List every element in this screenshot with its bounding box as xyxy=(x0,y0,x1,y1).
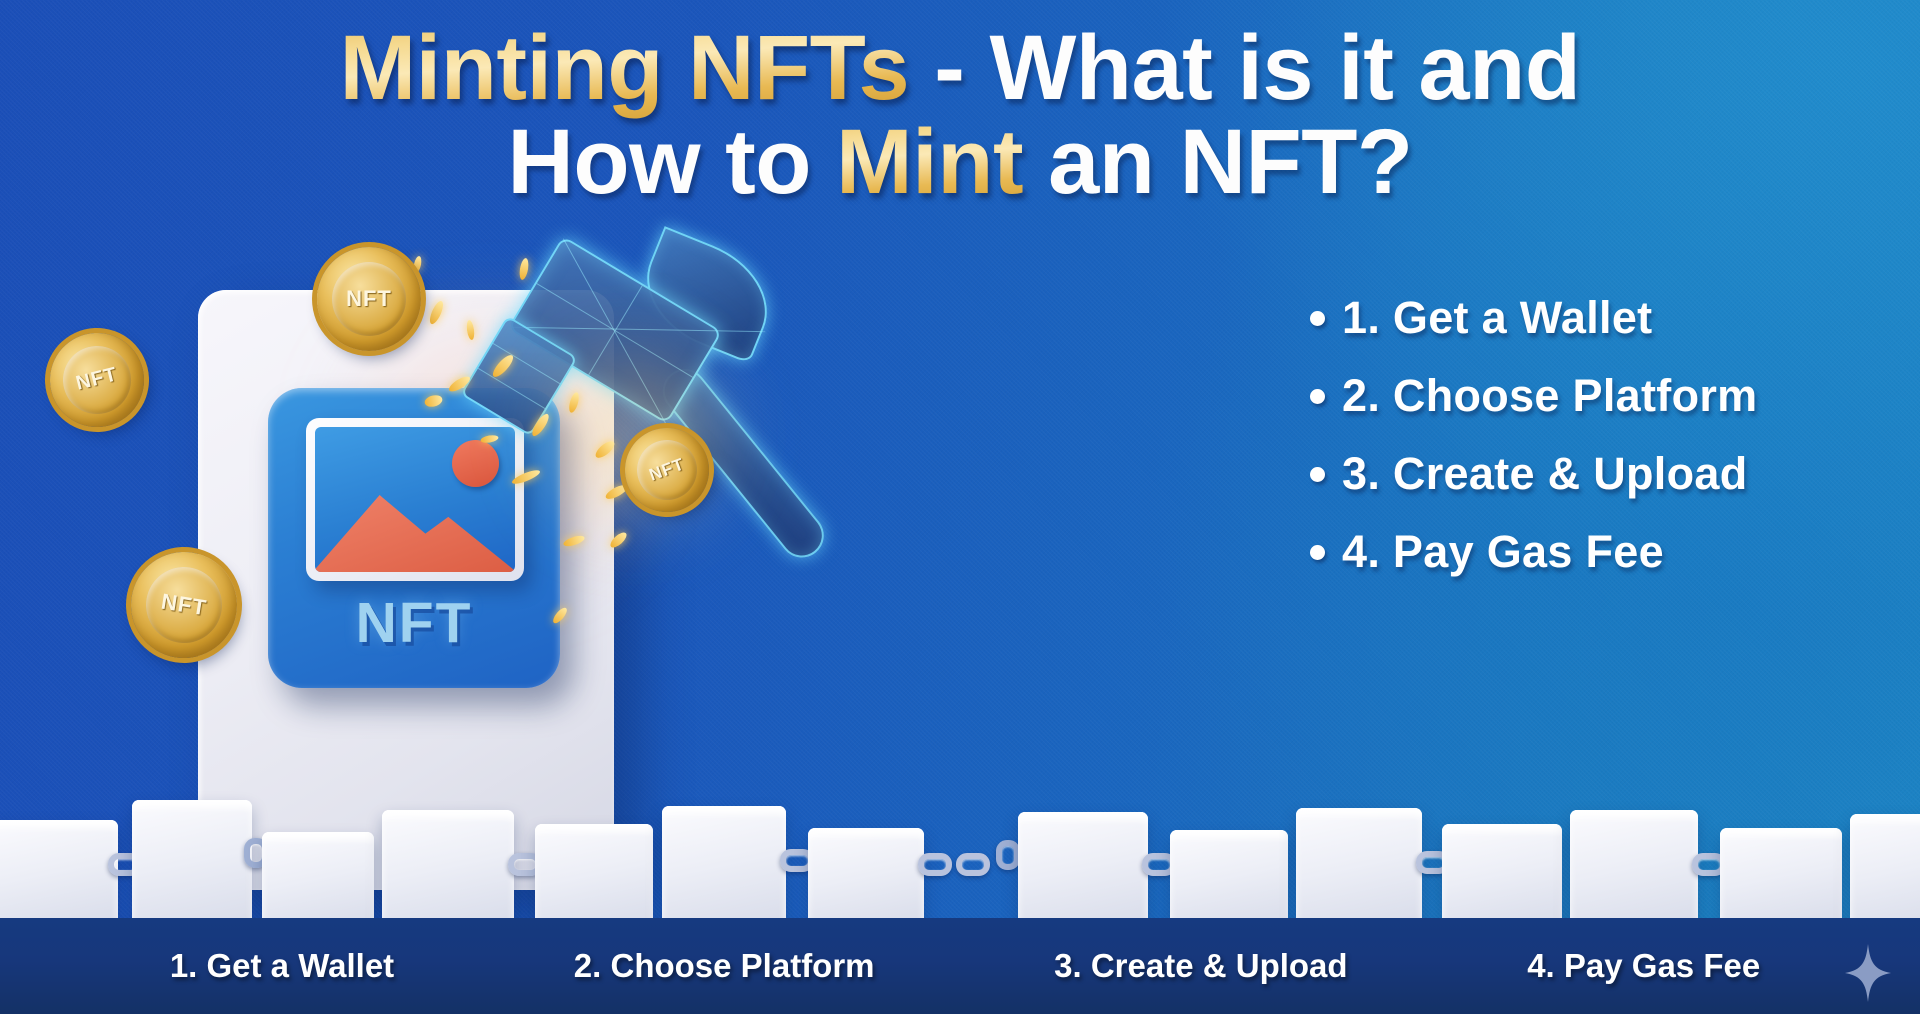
footer-step-2: 2. Choose Platform xyxy=(574,947,875,985)
list-item-label: 4. Pay Gas Fee xyxy=(1342,526,1664,578)
bullet-dot-icon xyxy=(1310,467,1325,482)
bullet-dot-icon xyxy=(1310,545,1325,560)
title-white-2a: How to xyxy=(507,111,836,213)
nft-coin: NFT xyxy=(317,247,421,351)
footer-step-1: 1. Get a Wallet xyxy=(170,947,394,985)
footer-steps-bar: 1. Get a Wallet 2. Choose Platform 3. Cr… xyxy=(0,918,1920,1014)
title-gold-2: Mint xyxy=(836,111,1023,213)
list-item-label: 1. Get a Wallet xyxy=(1342,292,1652,344)
spark-glow xyxy=(520,330,750,540)
footer-step-3: 3. Create & Upload xyxy=(1054,947,1347,985)
footer-step-4: 4. Pay Gas Fee xyxy=(1527,947,1760,985)
title-line-1: Minting NFTs - What is it and xyxy=(0,22,1920,116)
block-floor xyxy=(0,738,1920,928)
nft-card-label: NFT xyxy=(268,590,560,656)
page-title: Minting NFTs - What is it and How to Min… xyxy=(0,22,1920,210)
list-item-label: 2. Choose Platform xyxy=(1342,370,1757,422)
list-item: 1. Get a Wallet xyxy=(1310,292,1870,344)
mountain-shape xyxy=(315,490,515,572)
list-item: 2. Choose Platform xyxy=(1310,370,1870,422)
list-item-label: 3. Create & Upload xyxy=(1342,448,1748,500)
infographic-canvas: NFT xyxy=(0,0,1920,1014)
bullet-dot-icon xyxy=(1310,389,1325,404)
list-item: 3. Create & Upload xyxy=(1310,448,1870,500)
steps-list: 1. Get a Wallet 2. Choose Platform 3. Cr… xyxy=(1310,292,1870,604)
title-gold-1: Minting NFTs xyxy=(340,17,910,119)
title-white-1: - What is it and xyxy=(909,17,1580,119)
bullet-dot-icon xyxy=(1310,311,1325,326)
sparkle-icon xyxy=(1844,944,1892,1002)
title-line-2: How to Mint an NFT? xyxy=(0,116,1920,210)
title-white-2b: an NFT? xyxy=(1023,111,1413,213)
list-item: 4. Pay Gas Fee xyxy=(1310,526,1870,578)
